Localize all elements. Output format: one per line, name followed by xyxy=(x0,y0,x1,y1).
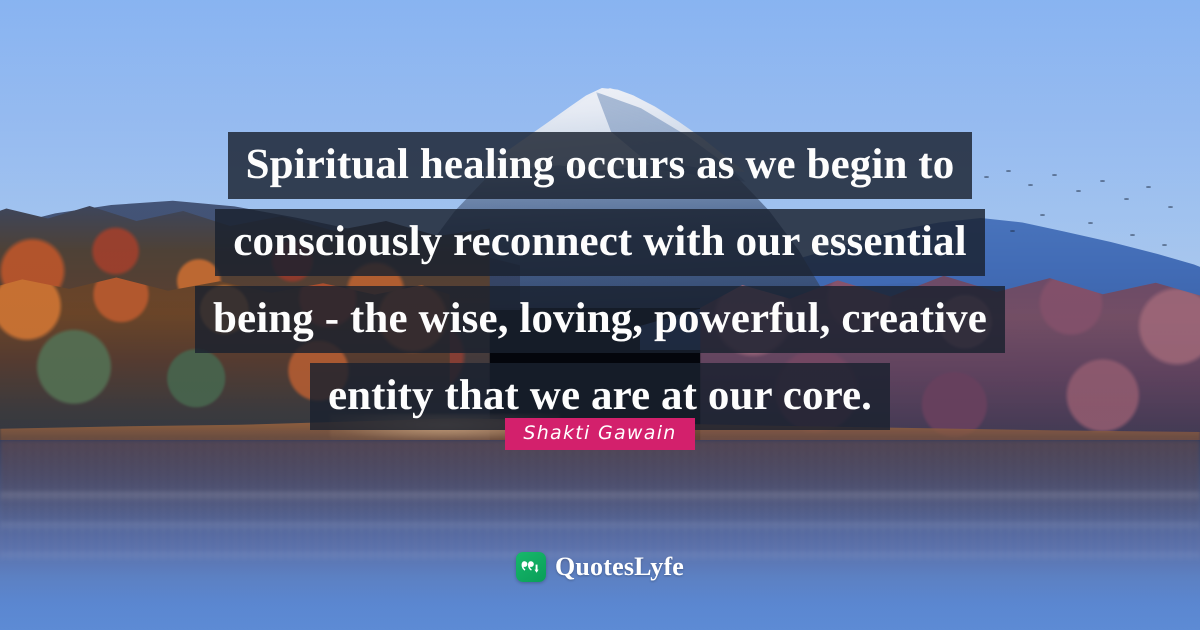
quote-text-block: Spiritual healing occurs as we begin to … xyxy=(0,132,1200,430)
quote-line: Spiritual healing occurs as we begin to xyxy=(228,132,973,199)
brand-logo[interactable]: QuotesLyfe xyxy=(0,552,1200,582)
quote-line: consciously reconnect with our essential xyxy=(215,209,984,276)
quote-mark-icon xyxy=(516,552,546,582)
author-badge-container: Shakti Gawain xyxy=(0,418,1200,450)
quote-line: being - the wise, loving, powerful, crea… xyxy=(195,286,1005,353)
brand-name: QuotesLyfe xyxy=(555,552,684,582)
author-name-badge: Shakti Gawain xyxy=(505,418,694,450)
quote-card: Spiritual healing occurs as we begin to … xyxy=(0,0,1200,630)
